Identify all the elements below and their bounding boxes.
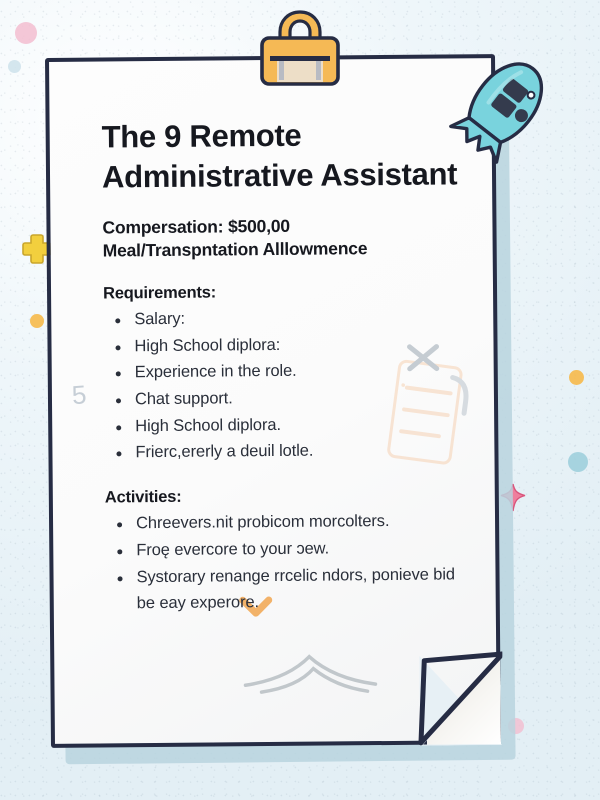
compensation-block: Compersation: $500,00 Meal/Transpntation… <box>102 213 458 262</box>
requirements-heading: Requirements: <box>103 281 459 303</box>
compensation-line-1: Compersation: $500,00 <box>102 215 290 237</box>
title-line-2: Administrative Assistant <box>102 155 458 198</box>
background-dot-pink-topleft <box>15 22 37 44</box>
background-dot-orange-left <box>30 314 44 328</box>
section-gap <box>105 463 461 488</box>
background-dot-blue-topleft <box>8 60 21 73</box>
clipboard-clip-icon <box>250 8 350 91</box>
list-item: Chreevers.nit probicom morcolters. <box>111 507 461 537</box>
activities-heading: Activities: <box>105 485 461 507</box>
list-item: High School diplora. <box>110 410 460 440</box>
card-content: The 9 Remote Administrative Assistant Co… <box>49 58 497 744</box>
list-item: Experience in the role. <box>110 357 460 387</box>
list-item: Systorary renange rrcelic ndors, ponieve… <box>111 561 461 617</box>
compensation-line-2: Meal/Transpntation Alllowmence <box>103 236 459 262</box>
background-dot-orange-right <box>569 370 584 385</box>
poster-canvas: 5 <box>0 0 600 800</box>
list-item: Frierc,ererly a deuil lotle. <box>110 437 460 467</box>
list-item: Salary: <box>109 303 459 333</box>
list-item: High School diplora: <box>109 330 459 360</box>
list-item: Chat support. <box>110 383 460 413</box>
background-dot-blue-right <box>568 452 588 472</box>
activities-list: Chreevers.nit probicom morcolters. Froę … <box>111 507 462 617</box>
list-item: Froę evercore to your ɔew. <box>111 534 461 564</box>
page-title: The 9 Remote Administrative Assistant <box>102 114 459 198</box>
title-line-1: The 9 Remote <box>102 118 302 155</box>
job-poster-card: 5 <box>45 54 501 748</box>
requirements-list: Salary: High School diplora: Experience … <box>109 303 460 466</box>
rocket-icon <box>443 52 561 169</box>
